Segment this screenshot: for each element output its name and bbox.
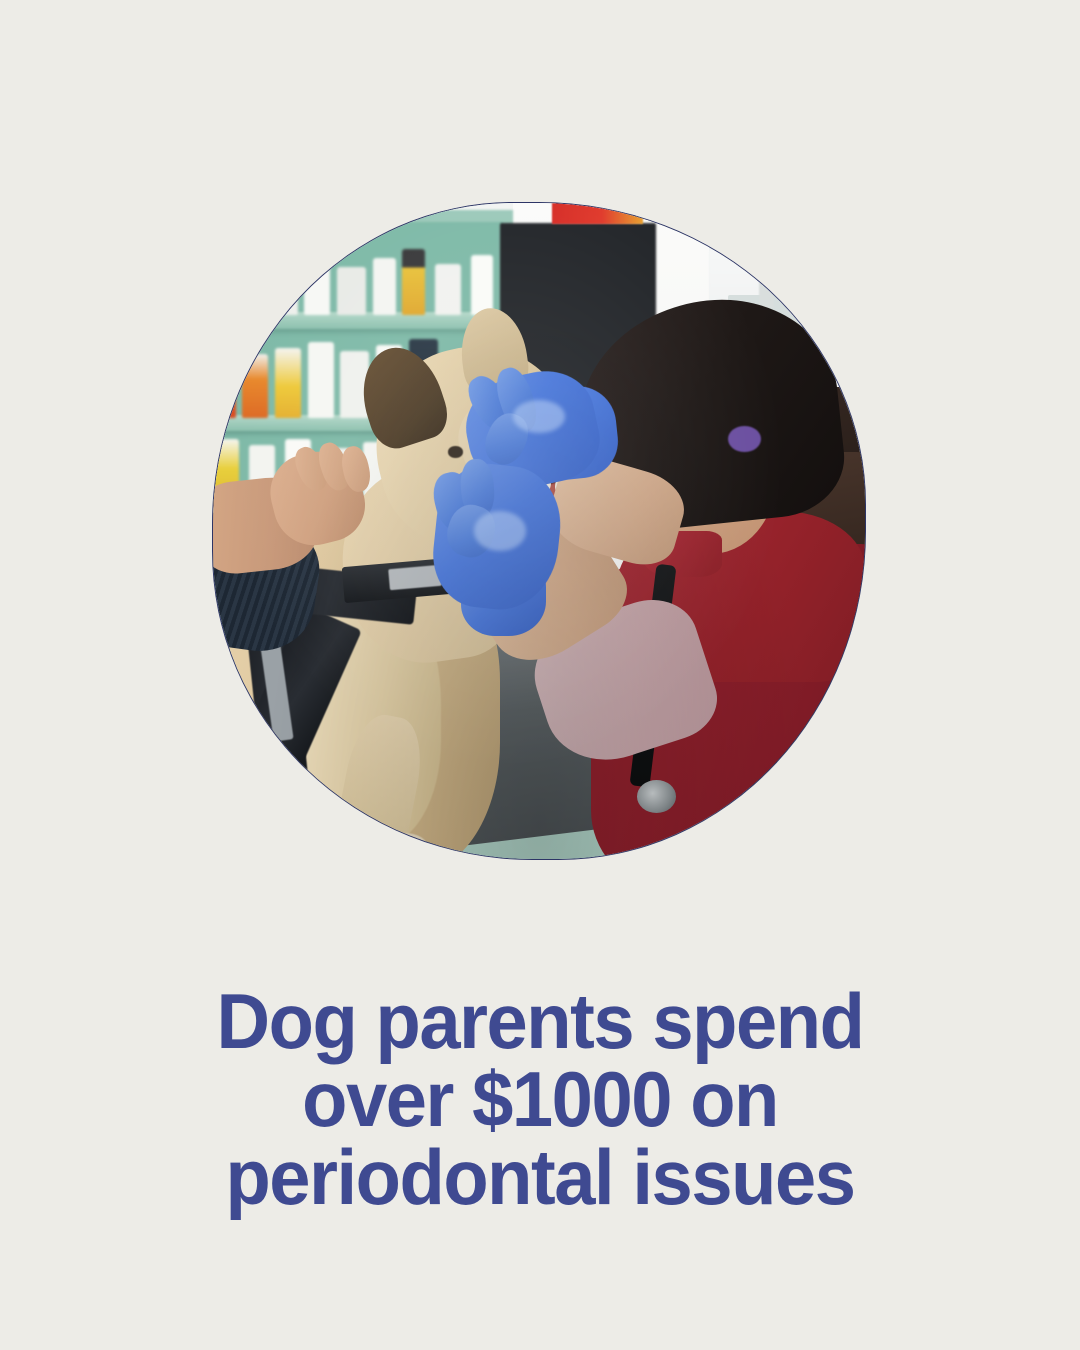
medicine-bottle-orange — [213, 342, 236, 417]
medicine-bottle — [435, 264, 461, 315]
medicine-bottle — [337, 267, 366, 315]
medicine-bottle — [275, 270, 298, 315]
wall-mounted-box — [748, 213, 794, 265]
red-warning-sign — [552, 203, 643, 224]
medicine-bottle — [275, 348, 301, 417]
hair-tie — [728, 426, 761, 452]
medicine-bottle — [308, 342, 334, 417]
medicine-bottle — [242, 252, 268, 315]
medicine-bottle — [304, 246, 330, 315]
medicine-bottle — [471, 255, 494, 315]
glove-highlight — [513, 400, 565, 433]
poster-canvas: Dog parents spend over $1000 on periodon… — [0, 0, 1080, 1350]
medicine-bottle-orange — [242, 354, 268, 417]
medicine-bottle-yellow — [402, 249, 425, 315]
headline-line-2: over $1000 on — [27, 1060, 1053, 1138]
medicine-bottle — [373, 258, 396, 315]
headline: Dog parents spend over $1000 on periodon… — [27, 982, 1053, 1216]
medicine-bottle — [213, 264, 236, 315]
veterinary-dental-exam-photo — [213, 203, 865, 859]
headline-line-3: periodontal issues — [27, 1138, 1053, 1216]
stethoscope-chestpiece — [637, 780, 676, 813]
glove-highlight — [474, 511, 526, 550]
headline-line-1: Dog parents spend — [27, 982, 1053, 1060]
dog-eye — [448, 446, 464, 458]
dog-paw — [376, 833, 428, 859]
photo-frame — [212, 202, 866, 860]
